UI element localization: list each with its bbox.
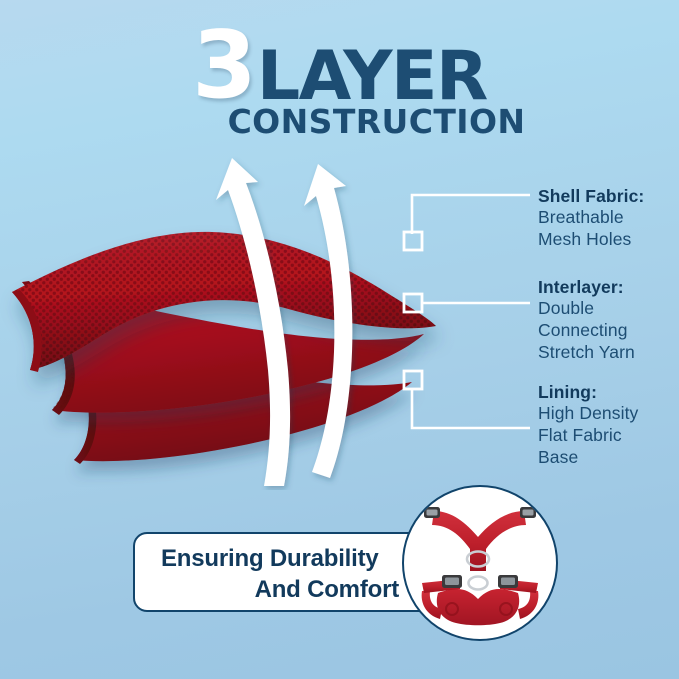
callout-lining-line1: High Density [538, 403, 679, 425]
dog-harness-illustration [404, 487, 556, 639]
callout-lining-line3: Base [538, 447, 679, 469]
callout-interlayer-line3: Stretch Yarn [538, 342, 679, 364]
harness-d-ring-bottom [469, 577, 488, 590]
harness-chest-pad [437, 589, 519, 625]
callout-interlayer-line2: Connecting [538, 320, 679, 342]
callout-lining-heading: Lining: [538, 381, 679, 403]
title-word-layer: LAYER [257, 48, 487, 106]
callout-interlayer-heading: Interlayer: [538, 276, 679, 298]
callout-interlayer: Interlayer: Double Connecting Stretch Ya… [538, 276, 679, 364]
callout-shell-fabric-line1: Breathable [538, 207, 679, 229]
callout-shell-fabric: Shell Fabric: Breathable Mesh Holes [538, 185, 679, 251]
title-number: 3 [192, 26, 255, 106]
callout-lining: Lining: High Density Flat Fabric Base [538, 381, 679, 469]
callout-interlayer-line1: Double [538, 298, 679, 320]
callout-shell-fabric-heading: Shell Fabric: [538, 185, 679, 207]
harness-strap-right [518, 591, 538, 619]
callout-lining-line2: Flat Fabric [538, 425, 679, 447]
fabric-layers-illustration [0, 120, 460, 490]
infographic-canvas: 3 LAYER CONSTRUCTION [0, 0, 679, 679]
title-main-row: 3 LAYER [0, 26, 679, 106]
harness-shoulder-straps [432, 511, 526, 571]
callout-shell-fabric-line2: Mesh Holes [538, 229, 679, 251]
product-photo-circle [402, 485, 558, 641]
